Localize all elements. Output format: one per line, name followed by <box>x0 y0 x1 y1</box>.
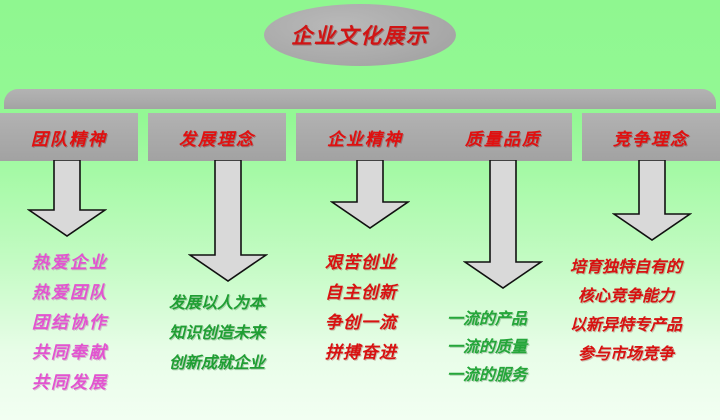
arrow-down-5 <box>612 160 692 242</box>
text-line: 共同奉献 <box>4 338 136 368</box>
text-line: 艰苦创业 <box>298 248 424 278</box>
text-column-4: 一流的产品 一流的质量 一流的服务 <box>424 305 550 389</box>
text-line: 自主创新 <box>298 278 424 308</box>
text-line: 核心竞争能力 <box>536 281 716 310</box>
header-box-label-4: 质量品质 <box>465 125 541 150</box>
text-line: 拼搏奋进 <box>298 338 424 368</box>
text-line: 知识创造未来 <box>146 318 288 348</box>
arrow-down-4 <box>463 160 543 290</box>
header-box-1[interactable]: 团队精神 <box>0 113 138 161</box>
text-line: 热爱企业 <box>4 248 136 278</box>
header-box-3[interactable]: 企业精神 <box>296 113 434 161</box>
text-column-5: 培育独特自有的 核心竞争能力 以新异特专产品 参与市场竞争 <box>536 252 716 368</box>
arrow-down-1 <box>27 160 107 238</box>
text-column-2: 发展以人为本 知识创造未来 创新成就企业 <box>146 288 288 378</box>
text-line: 参与市场竞争 <box>536 339 716 368</box>
text-line: 培育独特自有的 <box>536 252 716 281</box>
header-box-2[interactable]: 发展理念 <box>148 113 286 161</box>
header-box-label-5: 竞争理念 <box>613 125 689 150</box>
header-box-label-3: 企业精神 <box>327 125 403 150</box>
text-line: 一流的服务 <box>424 361 550 389</box>
text-line: 创新成就企业 <box>146 348 288 378</box>
header-box-row: 团队精神 发展理念 企业精神 质量品质 竞争理念 <box>0 113 720 161</box>
corporate-culture-diagram: 企业文化展示 团队精神 发展理念 企业精神 质量品质 竞争理念 <box>0 0 720 420</box>
header-box-label-1: 团队精神 <box>31 125 107 150</box>
text-line: 发展以人为本 <box>146 288 288 318</box>
text-line: 一流的质量 <box>424 333 550 361</box>
text-line: 团结协作 <box>4 308 136 338</box>
text-line: 热爱团队 <box>4 278 136 308</box>
arrow-down-3 <box>330 160 410 230</box>
text-column-1: 热爱企业 热爱团队 团结协作 共同奉献 共同发展 <box>4 248 136 398</box>
text-line: 以新异特专产品 <box>536 310 716 339</box>
diagram-title: 企业文化展示 <box>264 4 456 66</box>
text-line: 一流的产品 <box>424 305 550 333</box>
header-box-4[interactable]: 质量品质 <box>434 113 572 161</box>
text-column-3: 艰苦创业 自主创新 争创一流 拼搏奋进 <box>298 248 424 368</box>
arrow-down-2 <box>188 160 268 283</box>
header-box-5[interactable]: 竞争理念 <box>582 113 720 161</box>
header-box-label-2: 发展理念 <box>179 125 255 150</box>
text-line: 争创一流 <box>298 308 424 338</box>
text-line: 共同发展 <box>4 368 136 398</box>
connector-bar <box>4 89 716 109</box>
